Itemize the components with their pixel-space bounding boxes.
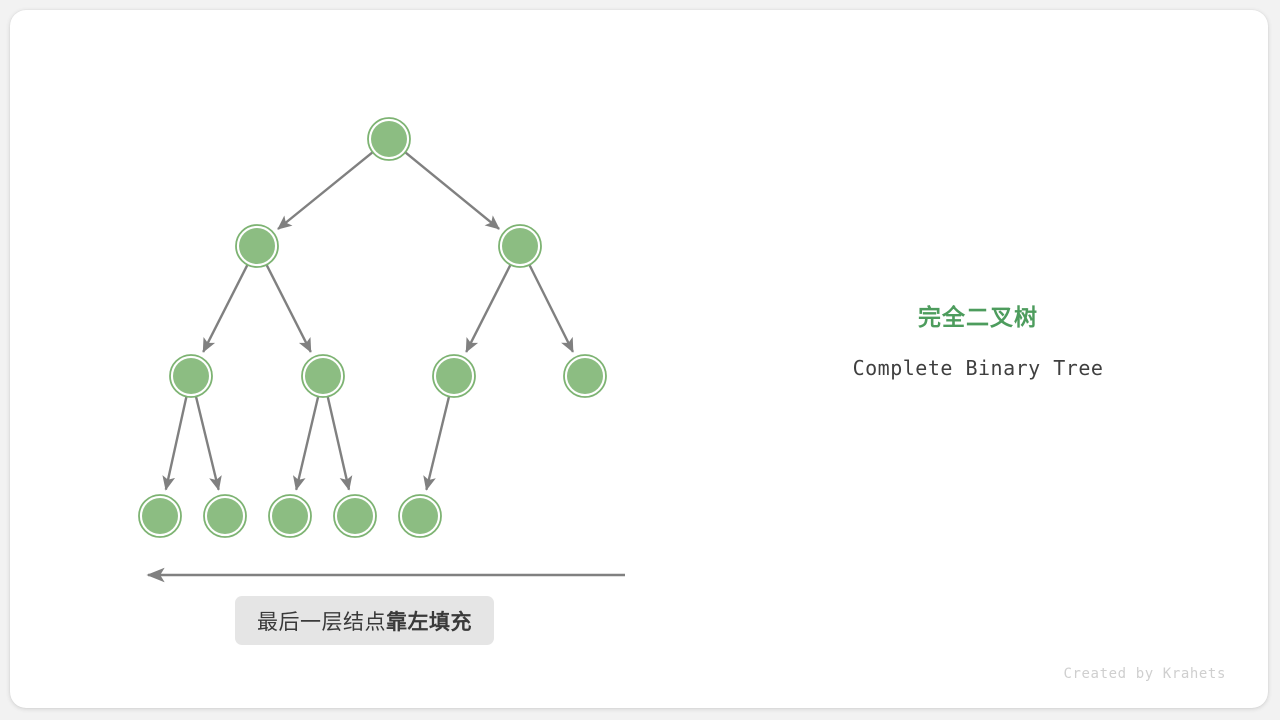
note-pill: 最后一层结点靠左填充 <box>235 596 494 645</box>
tree-node <box>204 495 246 537</box>
tree-edge <box>196 395 219 489</box>
tree-edge <box>266 264 311 352</box>
tree-node <box>564 355 606 397</box>
node-fill <box>567 358 603 394</box>
node-fill <box>207 498 243 534</box>
tree-node <box>499 225 541 267</box>
node-fill <box>337 498 373 534</box>
node-fill <box>305 358 341 394</box>
tree-edges <box>166 152 573 490</box>
node-fill <box>371 121 407 157</box>
caption-subtitle-english: Complete Binary Tree <box>790 332 1166 380</box>
diagram-card: 完全二叉树 Complete Binary Tree 最后一层结点靠左填充 Cr… <box>10 10 1268 708</box>
note-pill-text: 最后一层结点靠左填充 <box>257 606 472 636</box>
node-fill <box>272 498 308 534</box>
tree-node <box>170 355 212 397</box>
node-fill <box>502 228 538 264</box>
tree-edge <box>426 395 449 489</box>
tree-edge <box>404 152 499 229</box>
tree-node <box>368 118 410 160</box>
node-fill <box>436 358 472 394</box>
tree-edge <box>466 264 511 352</box>
node-fill <box>142 498 178 534</box>
tree-node <box>302 355 344 397</box>
screenshot-stage: 完全二叉树 Complete Binary Tree 最后一层结点靠左填充 Cr… <box>0 0 1280 720</box>
node-fill <box>402 498 438 534</box>
tree-node <box>269 495 311 537</box>
tree-edge <box>327 395 349 489</box>
tree-edge <box>296 395 318 489</box>
credit-text: Created by Krahets <box>1063 666 1226 682</box>
tree-edge <box>529 264 573 352</box>
tree-node <box>433 355 475 397</box>
node-fill <box>239 228 275 264</box>
caption-block: 完全二叉树 Complete Binary Tree <box>790 302 1166 380</box>
tree-edge <box>278 152 373 229</box>
tree-edge <box>203 264 248 352</box>
tree-node <box>334 495 376 537</box>
tree-node <box>236 225 278 267</box>
tree-node <box>399 495 441 537</box>
tree-node <box>139 495 181 537</box>
tree-nodes <box>139 118 606 537</box>
tree-edge <box>166 396 187 490</box>
caption-title-chinese: 完全二叉树 <box>790 302 1166 332</box>
note-text-bold: 靠左填充 <box>386 610 472 634</box>
node-fill <box>173 358 209 394</box>
note-text-normal: 最后一层结点 <box>257 610 386 634</box>
